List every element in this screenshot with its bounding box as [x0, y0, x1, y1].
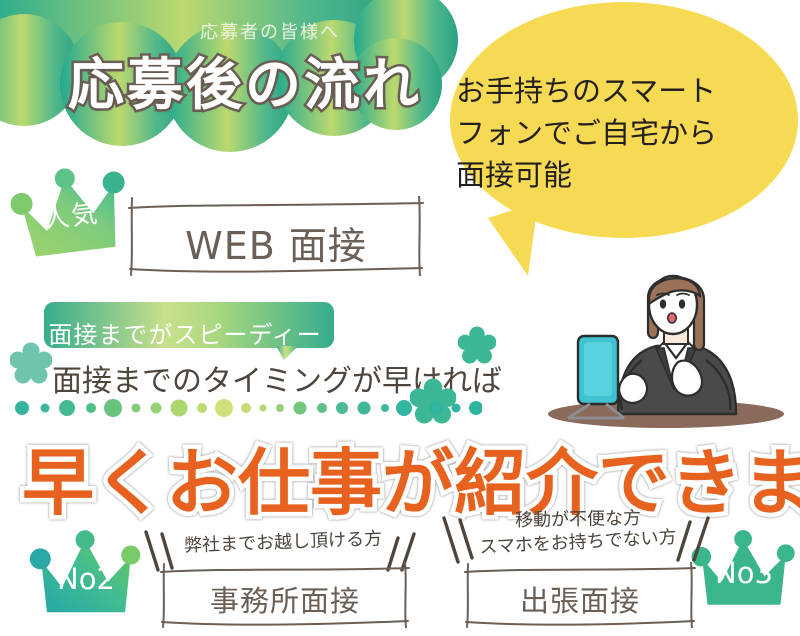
page-title: 応募後の流れ	[55, 40, 435, 121]
illustration-woman-video-interview	[546, 248, 796, 428]
method-name-shucchou: 出張面接	[462, 578, 698, 620]
bubble-line-2: フォンでご自宅から	[456, 112, 776, 154]
slash-marks-right-close	[676, 512, 718, 566]
method-caption-jimusho: 弊社までお越し頂ける方	[168, 524, 399, 558]
flower-icon	[10, 342, 52, 384]
method-name-jimusho: 事務所面接	[158, 578, 412, 620]
flower-icon	[458, 326, 496, 364]
method-caption-shucchou: 移動が不便な方 スマホをお持ちでない方	[450, 508, 706, 555]
method-name-web: WEB 面接	[126, 215, 426, 270]
bubble-text: お手持ちのスマート フォンでご自宅から 面接可能	[456, 70, 776, 196]
crown-icon-no2	[26, 528, 146, 624]
bubble-line-3: 面接可能	[456, 154, 776, 196]
tag-speedy-label: 面接までがスピーディー	[44, 315, 326, 350]
infographic-canvas: 応募者の皆様へ 応募後の流れ お手持ちのスマート フォンでご自宅から 面接可能	[0, 0, 800, 636]
bubble-line-1: お手持ちのスマート	[456, 70, 776, 112]
dotted-divider	[12, 396, 482, 420]
slash-marks-right-open	[438, 512, 478, 566]
crown-icon-ninki	[8, 166, 134, 266]
